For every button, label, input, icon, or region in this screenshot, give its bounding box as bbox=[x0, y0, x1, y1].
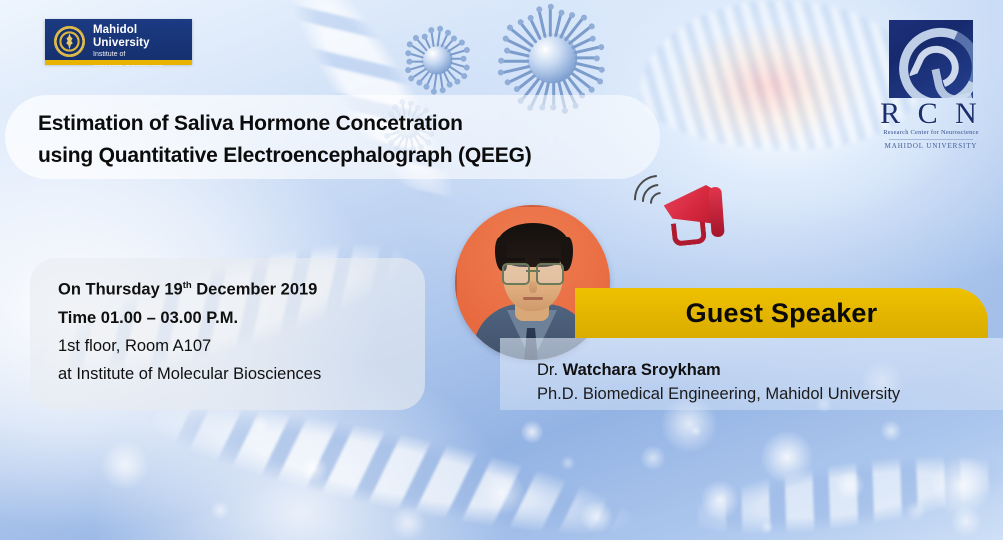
mahidol-seal-icon bbox=[54, 26, 85, 57]
speaker-name: Dr. Watchara Sroykham bbox=[537, 358, 721, 382]
megaphone-handle bbox=[671, 220, 707, 246]
event-info-text: On Thursday 19th December 2019 Time 01.0… bbox=[58, 272, 438, 388]
rcn-university: MAHIDOL UNIVERSITY bbox=[876, 142, 986, 150]
rcn-brain-icon bbox=[889, 20, 973, 98]
event-date: On Thursday 19th December 2019 bbox=[58, 272, 438, 304]
megaphone-rim bbox=[708, 187, 724, 238]
title-line-1: Estimation of Saliva Hormone Concetratio… bbox=[38, 108, 658, 140]
speaker-full-name: Watchara Sroykham bbox=[563, 361, 721, 379]
seminar-poster: Mahidol University Institute of Molecula… bbox=[0, 0, 1003, 540]
rcn-letters: R C N bbox=[876, 99, 986, 129]
rcn-logo: R C N Research Center for Neuroscience M… bbox=[876, 20, 986, 152]
glasses-lens-left bbox=[502, 263, 530, 285]
mahidol-logo-line1: Institute of bbox=[93, 51, 192, 60]
poster-title: Estimation of Saliva Hormone Concetratio… bbox=[38, 108, 658, 172]
mahidol-seal-emblem bbox=[64, 34, 75, 50]
portrait-mouth bbox=[523, 297, 543, 300]
portrait-eyebrow-right bbox=[539, 258, 559, 261]
event-venue: at Institute of Molecular Biosciences bbox=[58, 360, 438, 388]
mahidol-logo-name: Mahidol University bbox=[93, 24, 192, 50]
event-date-suffix: December 2019 bbox=[196, 281, 317, 299]
rcn-subtitle: Research Center for Neuroscience bbox=[876, 129, 986, 137]
glasses-bridge bbox=[526, 270, 540, 272]
event-date-ordinal: th bbox=[183, 280, 192, 291]
portrait-nose bbox=[529, 281, 537, 293]
event-time: Time 01.00 – 03.00 P.M. bbox=[58, 304, 438, 332]
title-line-2: using Quantitative Electroencephalograph… bbox=[38, 140, 658, 172]
event-date-prefix: On Thursday 19 bbox=[58, 281, 183, 299]
glasses-lens-right bbox=[536, 263, 564, 285]
guest-speaker-label: Guest Speaker bbox=[575, 288, 988, 338]
portrait-eyebrow-left bbox=[505, 258, 525, 261]
event-room: 1st floor, Room A107 bbox=[58, 332, 438, 360]
megaphone-icon bbox=[638, 172, 743, 252]
rcn-divider bbox=[889, 139, 973, 140]
mahidol-university-logo: Mahidol University Institute of Molecula… bbox=[45, 19, 192, 64]
speaker-credentials: Ph.D. Biomedical Engineering, Mahidol Un… bbox=[537, 382, 900, 406]
portrait-glasses bbox=[502, 263, 564, 281]
mahidol-logo-underline bbox=[45, 60, 192, 65]
speaker-title-prefix: Dr. bbox=[537, 361, 563, 379]
